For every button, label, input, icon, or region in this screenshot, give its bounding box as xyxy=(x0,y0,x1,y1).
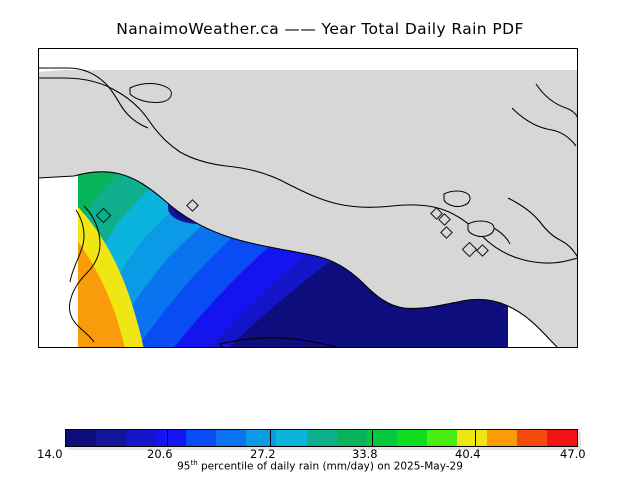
colorbar-band-3 xyxy=(156,430,186,446)
coastline-layer xyxy=(38,48,578,348)
colorbar-caption-pre: 95 xyxy=(177,461,190,473)
colorbar-band-5 xyxy=(216,430,246,446)
colorbar-tick-0 xyxy=(65,429,66,447)
colorbar-band-14 xyxy=(487,430,517,446)
colorbar-band-8 xyxy=(307,430,337,446)
colorbar-tick-1 xyxy=(167,429,168,447)
colorbar-band-9 xyxy=(337,430,367,446)
colorbar-band-16 xyxy=(547,430,577,446)
colorbar-tick-4 xyxy=(475,429,476,447)
colorbar-tick-3 xyxy=(372,429,373,447)
colorbar[interactable] xyxy=(65,429,578,447)
colorbar-caption-ordinal: th xyxy=(190,459,197,467)
colorbar-band-7 xyxy=(276,430,306,446)
colorbar-caption-post: percentile of daily rain (mm/day) on 202… xyxy=(198,461,463,473)
colorbar-band-13 xyxy=(457,430,487,446)
colorbar-band-1 xyxy=(96,430,126,446)
colorbar-band-4 xyxy=(186,430,216,446)
colorbar-band-11 xyxy=(397,430,427,446)
colorbar-band-0 xyxy=(66,430,96,446)
colorbar-tick-5 xyxy=(577,429,578,447)
colorbar-band-12 xyxy=(427,430,457,446)
page-title: NanaimoWeather.ca —— Year Total Daily Ra… xyxy=(0,20,640,38)
colorbar-band-6 xyxy=(246,430,276,446)
map-panel[interactable] xyxy=(38,48,578,348)
colorbar-band-2 xyxy=(126,430,156,446)
colorbar-tick-2 xyxy=(270,429,271,447)
colorbar-caption: 95th percentile of daily rain (mm/day) o… xyxy=(0,459,640,473)
colorbar-band-15 xyxy=(517,430,547,446)
